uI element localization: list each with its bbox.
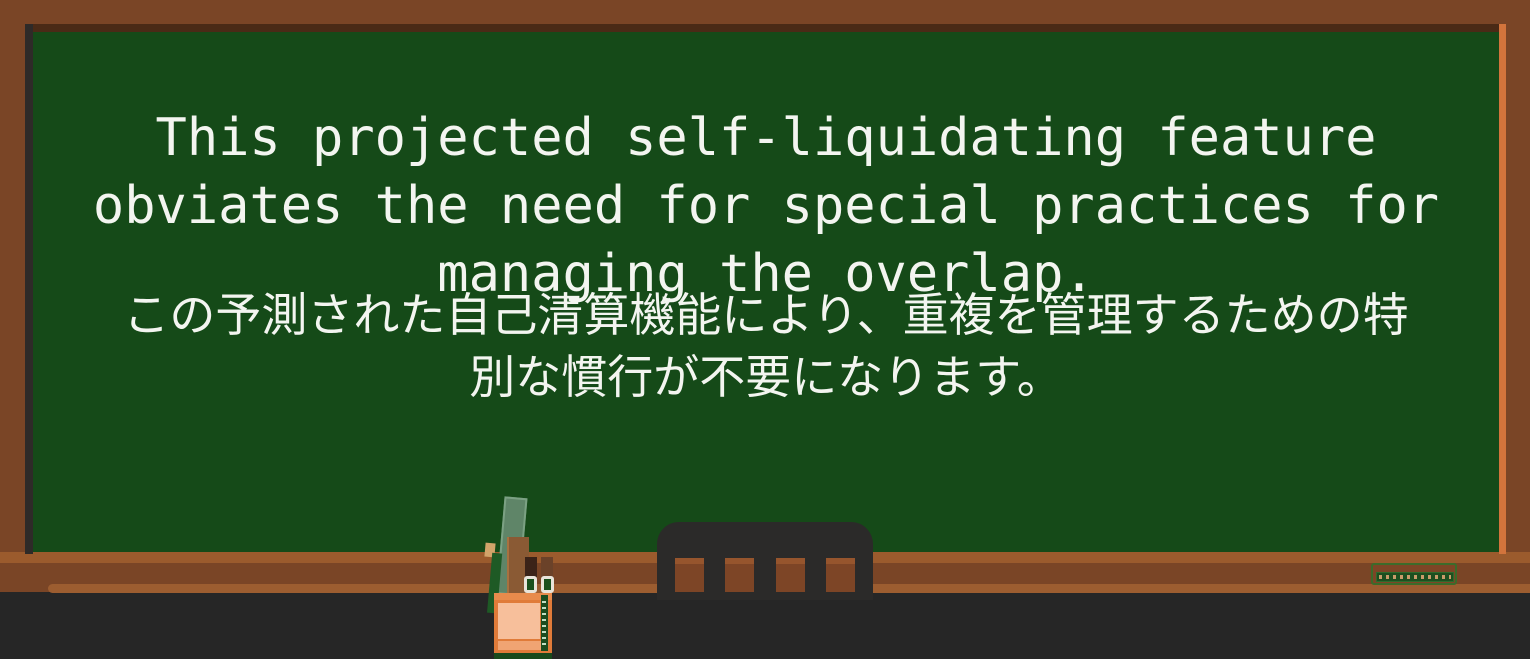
- pencil-cup: [494, 593, 552, 659]
- chair-slat: [725, 558, 754, 592]
- scissors-handle-left: [524, 576, 537, 593]
- frame-bevel-top: [25, 24, 1506, 32]
- frame-bevel-left: [25, 24, 33, 554]
- chair-slat: [675, 558, 704, 592]
- pencil-cup-group: [480, 495, 580, 659]
- pencil-cup-panel: [498, 603, 540, 639]
- pencil-cup-stripe-texture: [542, 601, 546, 645]
- japanese-sentence-block: この予測された自己清算機能により、重複を管理するための特別な慣行が不要になります…: [33, 284, 1499, 408]
- scissors-blade-right: [541, 557, 553, 577]
- chair-slats: [657, 558, 873, 592]
- scissors-blade-left: [525, 557, 537, 577]
- chair-slat: [776, 558, 805, 592]
- chalkboard-surface: This projected self-liquidating feature …: [33, 32, 1499, 552]
- chalkboard-eraser: [1371, 563, 1457, 585]
- scissors-icon: [524, 557, 556, 595]
- japanese-sentence: この予測された自己清算機能により、重複を管理するための特別な慣行が不要になります…: [33, 284, 1499, 408]
- eraser-texture: [1379, 575, 1451, 579]
- chair-slat: [826, 558, 855, 592]
- scissors-handle-right: [541, 576, 554, 593]
- floor: [0, 592, 1530, 659]
- frame-bevel-right: [1499, 24, 1506, 554]
- english-sentence-block: This projected self-liquidating feature …: [33, 104, 1499, 308]
- chalkboard-scene: This projected self-liquidating feature …: [0, 0, 1530, 659]
- english-sentence: This projected self-liquidating feature …: [33, 104, 1499, 308]
- pencil-cup-base: [494, 653, 552, 659]
